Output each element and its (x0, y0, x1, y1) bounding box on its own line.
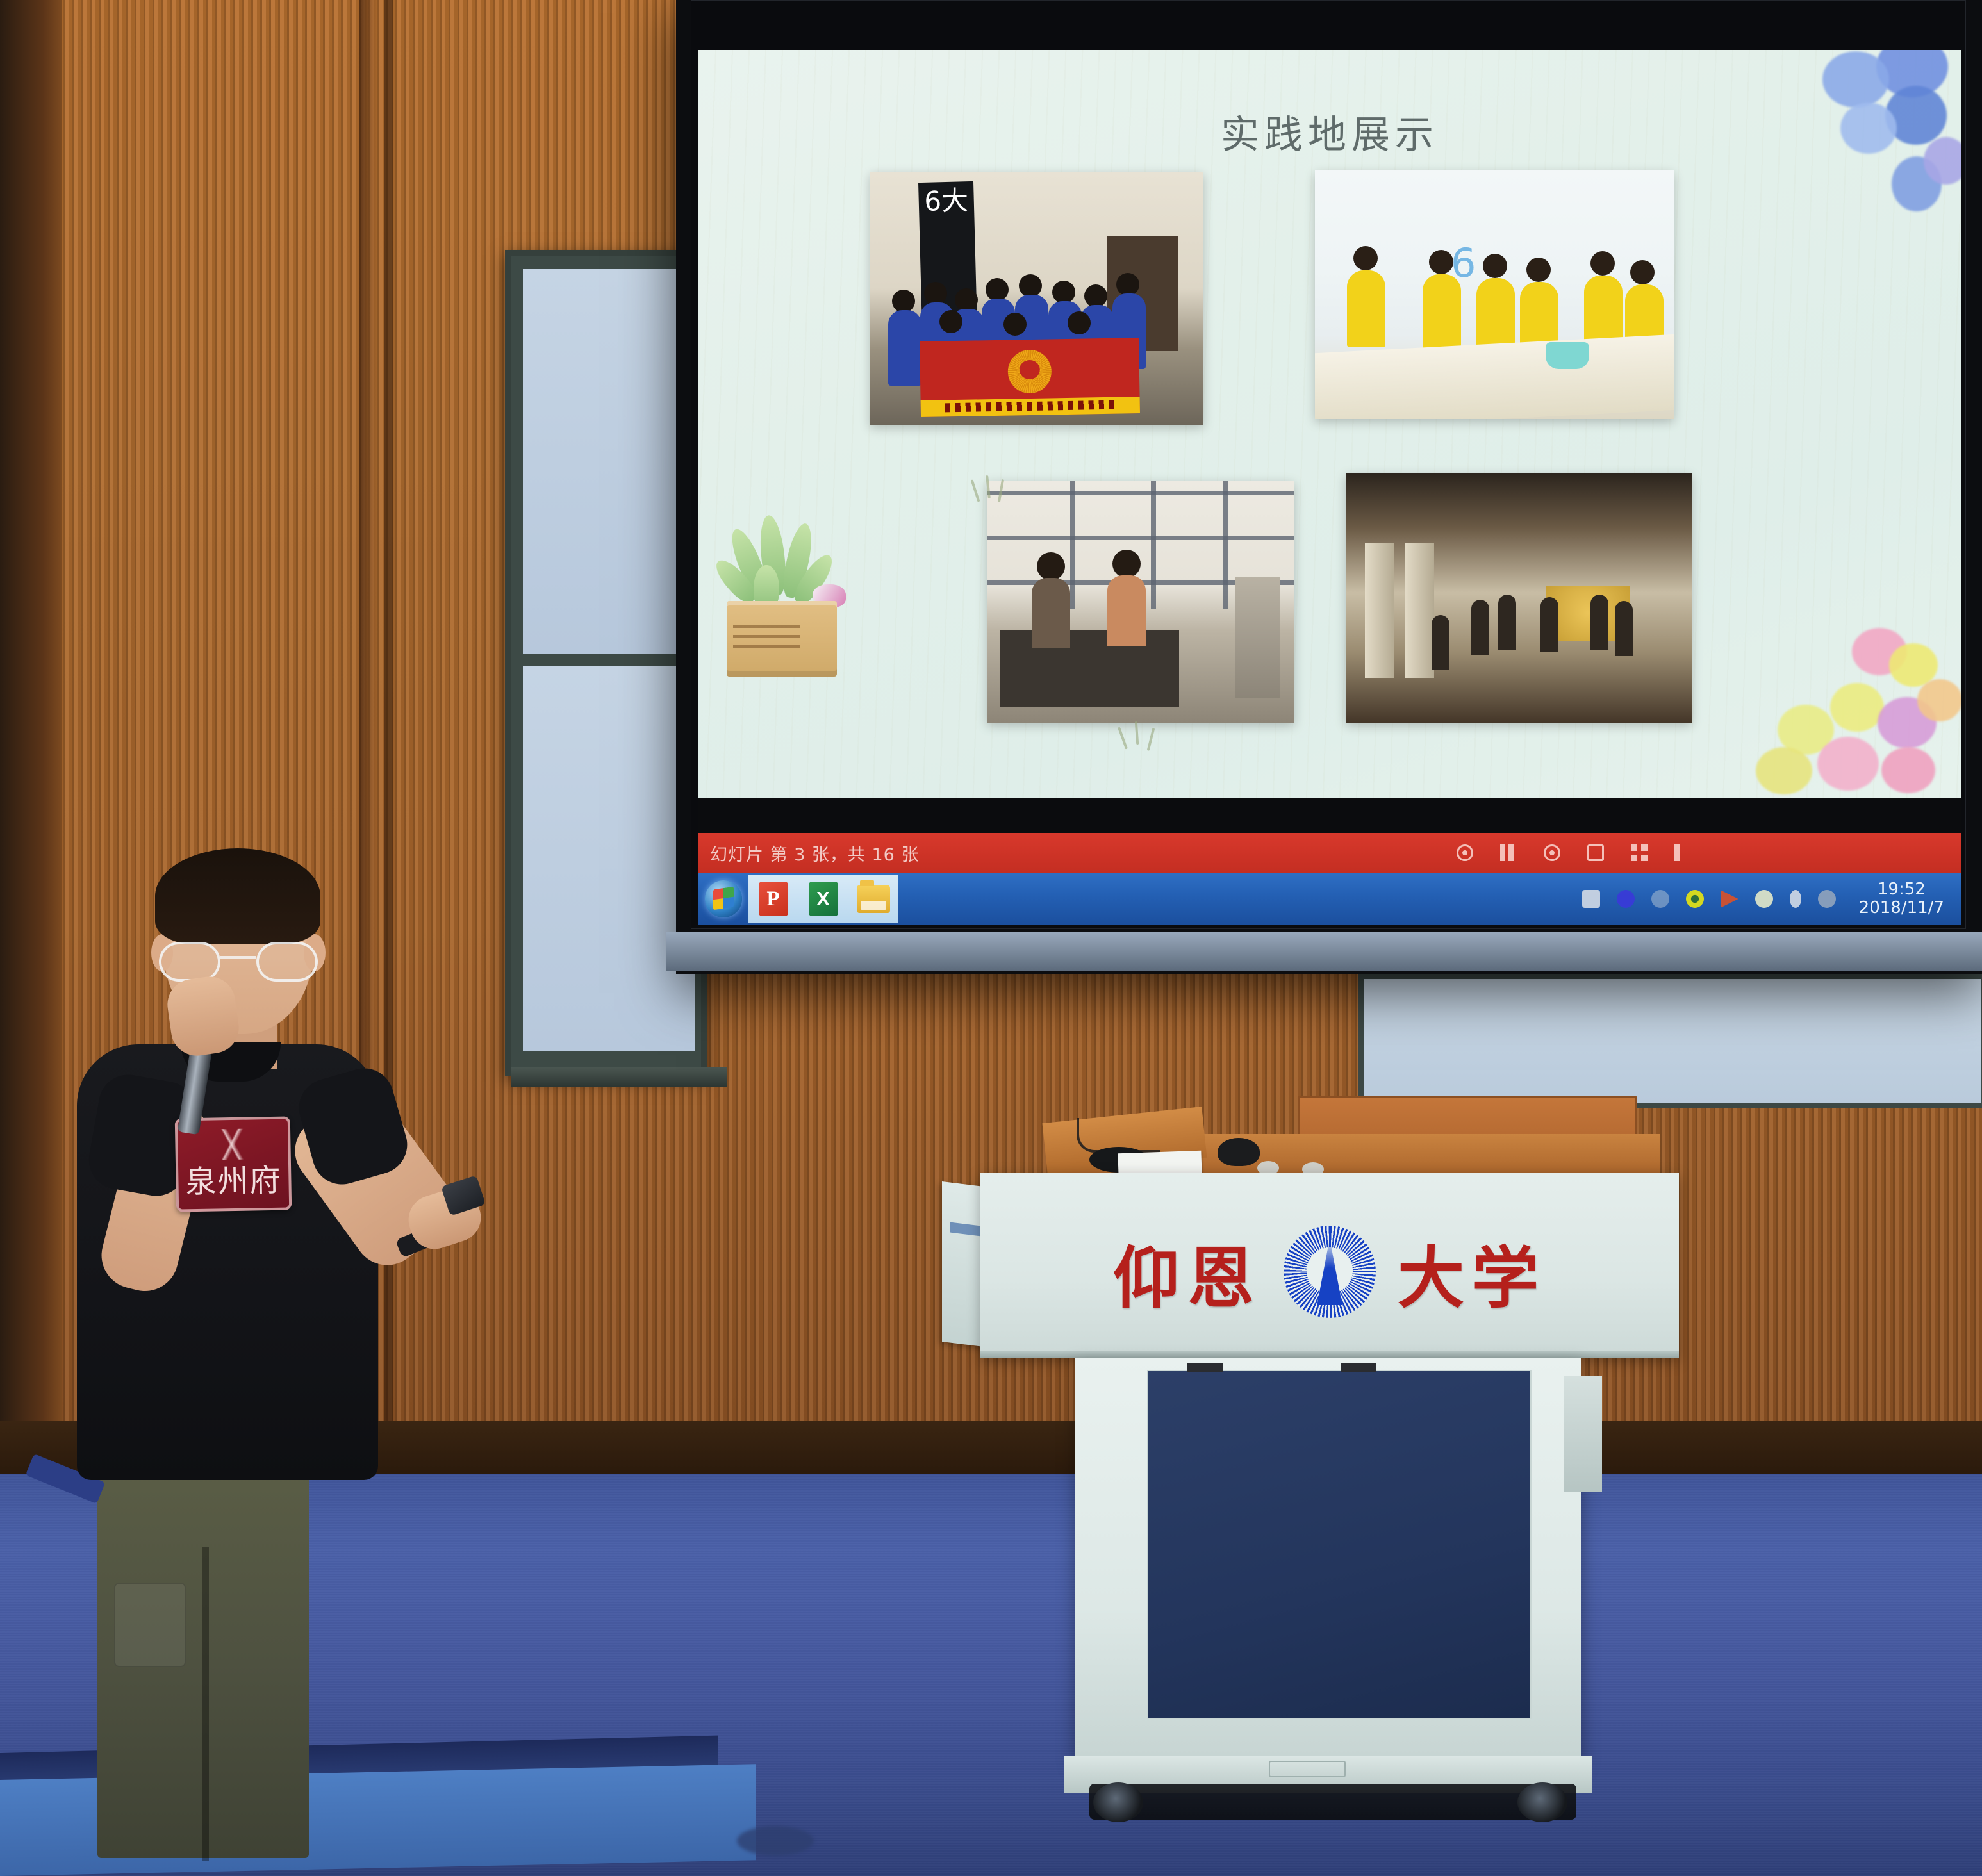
presenter-hair (155, 848, 320, 944)
system-tray: 19:52 2018/11/7 (1582, 880, 1961, 917)
taskbar-item-excel[interactable]: X (798, 875, 848, 923)
cloud-icon[interactable] (1755, 890, 1773, 908)
update-icon[interactable] (1818, 890, 1836, 908)
whiteboard-pane-bottom (523, 666, 695, 1051)
flag-icon[interactable] (1721, 890, 1738, 908)
powerpoint-status-bar: 幻灯片 第 3 张，共 16 张 (698, 833, 1961, 873)
taskbar-clock[interactable]: 19:52 2018/11/7 (1853, 880, 1949, 917)
antivirus-icon[interactable] (1686, 890, 1704, 908)
pastel-flowers-decoration (1756, 621, 1961, 798)
sign-text: 6大 (918, 181, 975, 221)
start-button[interactable] (698, 875, 748, 923)
excel-icon: X (809, 882, 838, 916)
slide-photo-lobby (1346, 473, 1692, 723)
powerpoint-slide[interactable]: 实践地展示 6大 (698, 50, 1961, 798)
previous-slide-button[interactable] (1457, 844, 1473, 861)
podium-front-panel (1147, 1370, 1532, 1719)
pause-button[interactable] (1500, 844, 1517, 861)
podium-caster-wheel (1517, 1782, 1567, 1822)
podium-cable-shadow (1089, 1784, 1576, 1820)
pants-cargo-pocket (114, 1583, 186, 1667)
windows-start-orb-icon (705, 880, 742, 917)
brand-text-left: 仰恩 (1113, 1224, 1262, 1321)
shield-icon[interactable] (1651, 890, 1669, 908)
slide-photo-yellow-shirts: 6 (1315, 170, 1674, 419)
whiteboard-pane-top (523, 269, 695, 654)
battery-icon[interactable] (1790, 890, 1801, 908)
computer-mouse[interactable] (1218, 1138, 1260, 1166)
screen-valance (666, 932, 1982, 971)
grass-sprig-decoration (1115, 720, 1192, 765)
slide-counter-status: 幻灯片 第 3 张，共 16 张 (710, 841, 919, 866)
lecture-hall-scene: 实践地展示 6大 (0, 0, 1982, 1876)
taskbar-item-folder[interactable] (848, 875, 898, 923)
shirt-badge-text: 泉州府 (185, 1155, 282, 1210)
clock-date: 2018/11/7 (1859, 899, 1944, 917)
volume-icon[interactable] (1617, 890, 1635, 908)
wall-panel-right (1358, 974, 1982, 1108)
windows-taskbar: P X 19:52 2018/11/7 (698, 873, 1961, 925)
red-team-banner (920, 338, 1140, 417)
succulent-in-wooden-crate-decoration (715, 510, 850, 677)
network-icon[interactable] (1582, 890, 1600, 908)
slide-photo-warehouse (987, 481, 1294, 723)
pants-leg-seam (202, 1547, 209, 1861)
slide-grid-button[interactable] (1631, 844, 1648, 861)
clock-time: 19:52 (1859, 880, 1944, 899)
presenter-view-button[interactable] (1587, 844, 1604, 861)
presenter: 泉州府 (38, 852, 500, 1876)
brand-text-right: 大学 (1398, 1224, 1546, 1321)
podium-base-cutout (1269, 1761, 1346, 1777)
eyeglasses-icon (159, 942, 318, 984)
folder-icon (857, 885, 890, 913)
yangen-university-sunburst-logo-icon (1284, 1226, 1376, 1318)
powerpoint-icon: P (759, 882, 788, 916)
podium-caster-wheel (1093, 1782, 1143, 1822)
podium-side-box (1564, 1376, 1602, 1492)
screen-letterbox (698, 798, 1961, 833)
more-options-button[interactable] (1674, 844, 1680, 861)
taskbar-item-powerpoint[interactable]: P (748, 875, 798, 923)
whiteboard-tray (511, 1067, 727, 1087)
next-slide-button[interactable] (1544, 844, 1560, 861)
floor-shadow (737, 1826, 814, 1855)
slide-title: 实践地展示 (698, 104, 1961, 160)
podium-brand: 仰恩 大学 (980, 1211, 1679, 1333)
slide-photo-group-banner: 6大 (870, 172, 1203, 425)
